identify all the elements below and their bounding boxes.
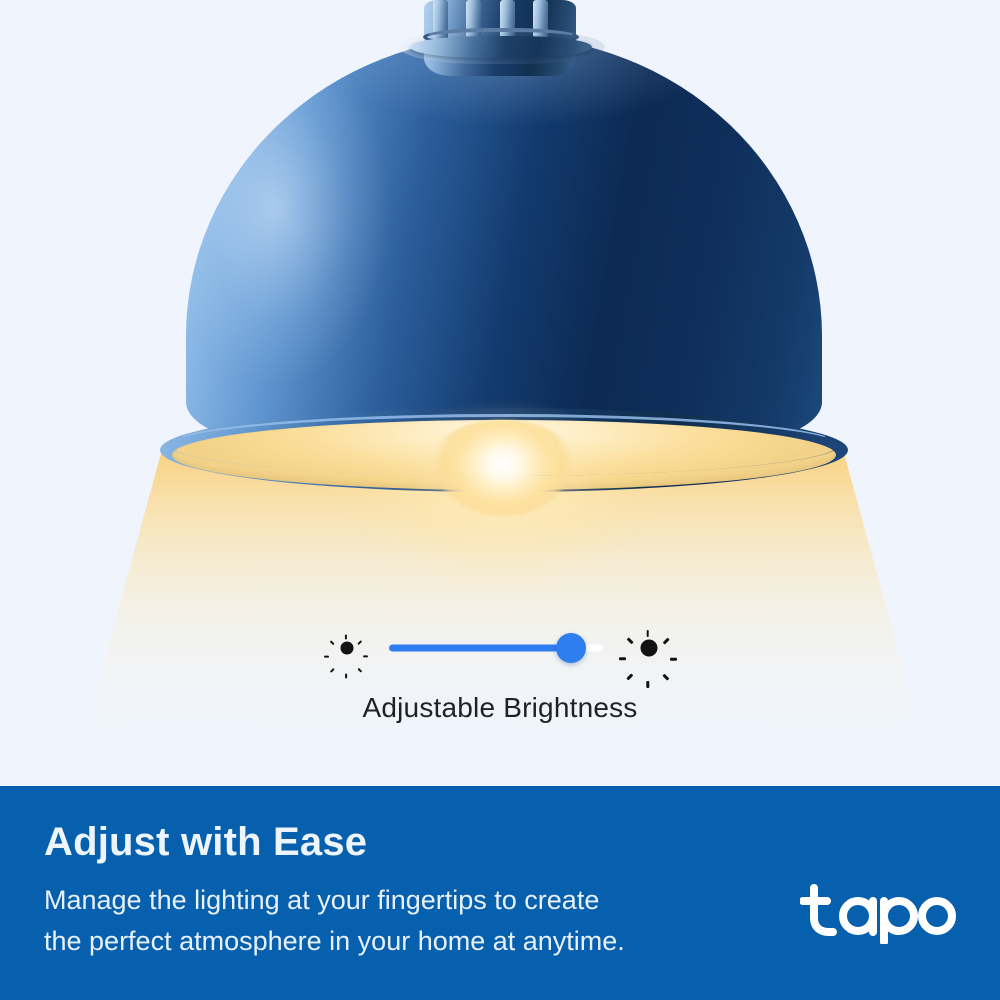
slider-track-fill bbox=[389, 645, 571, 652]
sun-ray bbox=[363, 655, 368, 657]
hero-product-scene: Adjustable Brightness bbox=[0, 0, 1000, 786]
sun-ray bbox=[324, 655, 329, 657]
brightness-slider[interactable] bbox=[389, 637, 603, 659]
sun-large-icon bbox=[629, 628, 669, 668]
slider-thumb[interactable] bbox=[556, 633, 586, 663]
info-banner: Adjust with Ease Manage the lighting at … bbox=[0, 786, 1000, 1000]
lamp-shade bbox=[186, 36, 822, 448]
marketing-card: Adjustable Brightness Adjust with Ease M… bbox=[0, 0, 1000, 1000]
sun-ray bbox=[330, 640, 335, 645]
sun-ray bbox=[662, 638, 669, 645]
banner-heading: Adjust with Ease bbox=[44, 820, 367, 865]
lamp-collar-band bbox=[410, 36, 592, 58]
brightness-caption: Adjustable Brightness bbox=[0, 692, 1000, 724]
sun-small-core bbox=[341, 642, 354, 655]
brightness-slider-control[interactable] bbox=[0, 624, 1000, 672]
banner-body-line-2: the perfect atmosphere in your home at a… bbox=[44, 921, 744, 962]
sun-ray bbox=[646, 681, 649, 688]
sun-large-core bbox=[641, 640, 658, 657]
sun-ray bbox=[646, 630, 649, 637]
sun-ray bbox=[626, 638, 633, 645]
sun-ray bbox=[619, 658, 626, 661]
sun-ray bbox=[345, 674, 347, 679]
sun-small-icon bbox=[331, 632, 363, 664]
banner-body-line-1: Manage the lighting at your fingertips t… bbox=[44, 880, 744, 921]
tapo-logo bbox=[800, 882, 958, 944]
banner-body: Manage the lighting at your fingertips t… bbox=[44, 880, 744, 962]
sun-ray bbox=[670, 658, 677, 661]
sun-ray bbox=[345, 635, 347, 640]
sun-ray bbox=[357, 640, 362, 645]
